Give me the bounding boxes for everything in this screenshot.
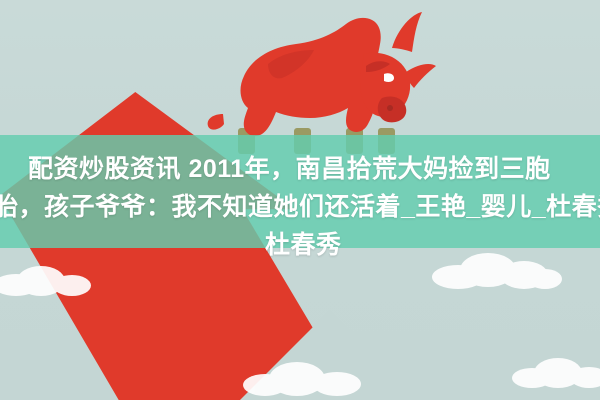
bull-horn-upper [392, 12, 422, 52]
headline-line-3: 杜春秀 [265, 226, 600, 264]
bull-horn-lower [406, 64, 436, 88]
cloud-left-upper-icon [1, 266, 93, 296]
headline-line-1: 配资炒股资讯 2011年，南昌拾荒大妈捡到三胞 [28, 150, 600, 188]
bull-body [241, 18, 381, 136]
screenshot-canvas: 配资炒股资讯 2011年，南昌拾荒大妈捡到三胞 胎，孩子爷爷：我不知道她们还活着… [0, 0, 600, 400]
article-headline: 配资炒股资讯 2011年，南昌拾荒大妈捡到三胞 胎，孩子爷爷：我不知道她们还活着… [28, 150, 600, 264]
red-bull-icon [168, 2, 438, 154]
headline-line-2: 胎，孩子爷爷：我不知道她们还活着_王艳_婴儿_杜春秀 [0, 188, 600, 226]
cloud-right-lower-icon [512, 358, 600, 388]
cloud-center-lower-icon [243, 362, 361, 396]
